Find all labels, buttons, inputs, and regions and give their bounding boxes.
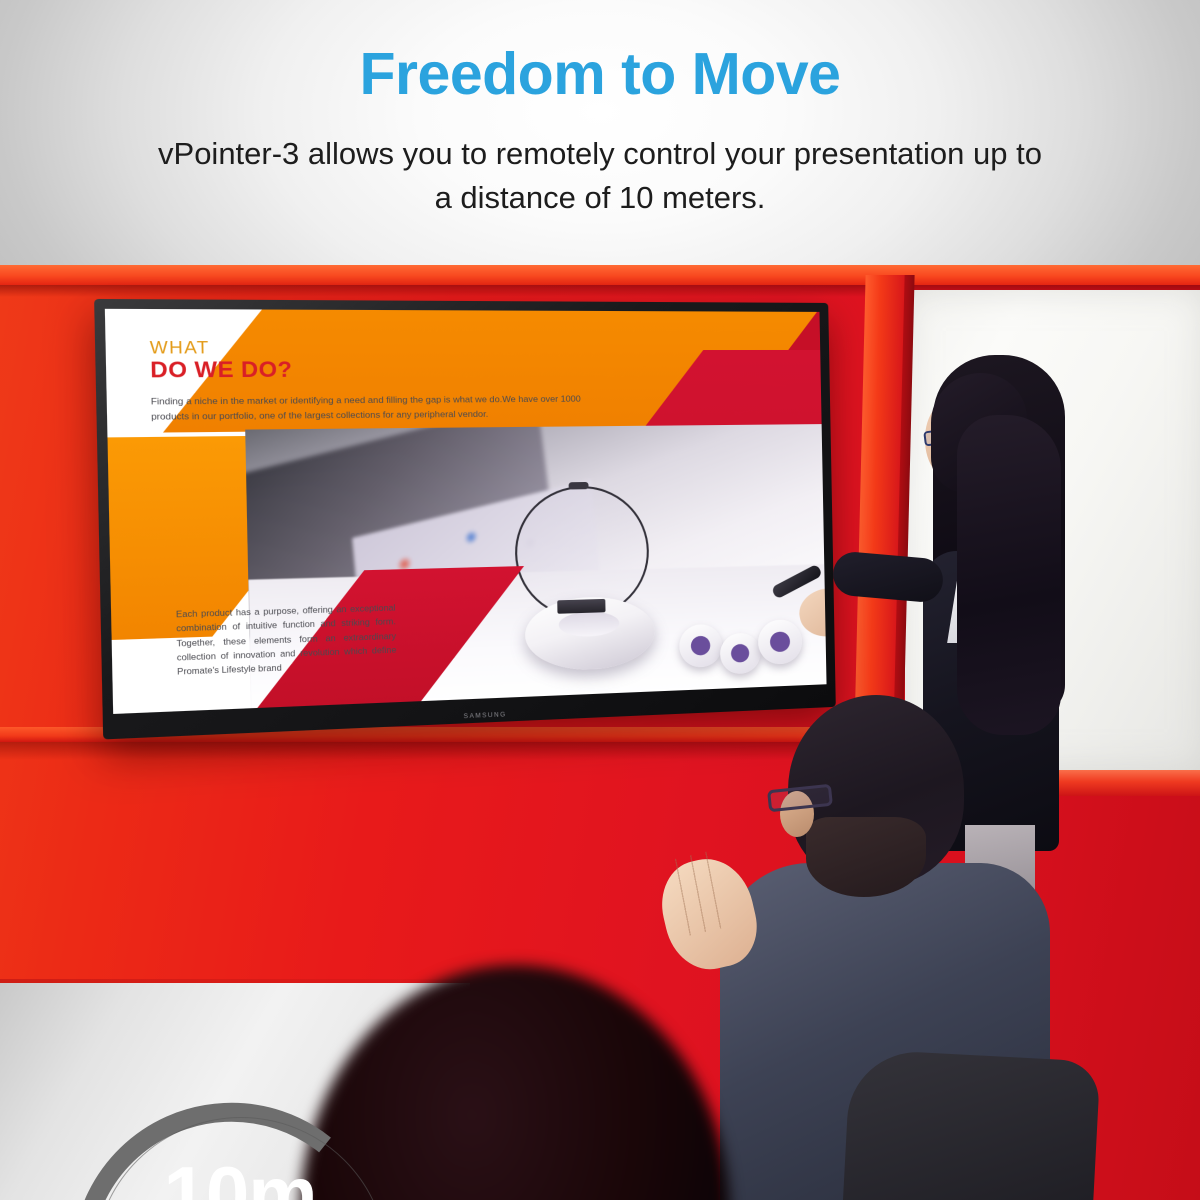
office-chair [829,1049,1100,1200]
slide-kicker: WHAT [150,338,210,359]
presenter-hair-overlay [957,415,1061,735]
badge-text-group: 10m Working Range [60,1083,420,1200]
slide-body-top: Finding a niche in the market or identif… [151,391,582,424]
product-hinge [557,599,605,614]
page-title: Freedom to Move [0,44,1200,106]
product-lid-nub [569,482,589,490]
slide-body-bottom: Each product has a purpose, offering an … [176,601,397,679]
tv-screen: WHAT DO WE DO? Finding a niche in the ma… [105,309,827,714]
header-band: Freedom to Move vPointer-3 allows you to… [0,0,1200,266]
presentation-slide: WHAT DO WE DO? Finding a niche in the ma… [105,309,827,714]
slide-title: DO WE DO? [150,358,293,384]
meeting-room-photo: WHAT DO WE DO? Finding a niche in the ma… [0,265,1200,1200]
wall-mounted-tv: WHAT DO WE DO? Finding a niche in the ma… [94,299,836,740]
product-feature-poster: Freedom to Move vPointer-3 allows you to… [0,0,1200,1200]
page-subtitle: vPointer-3 allows you to remotely contro… [150,132,1050,220]
badge-value: 10m [60,1155,420,1200]
working-range-badge: 10m Working Range [60,1083,420,1200]
wall-ledge-top [0,265,1200,285]
